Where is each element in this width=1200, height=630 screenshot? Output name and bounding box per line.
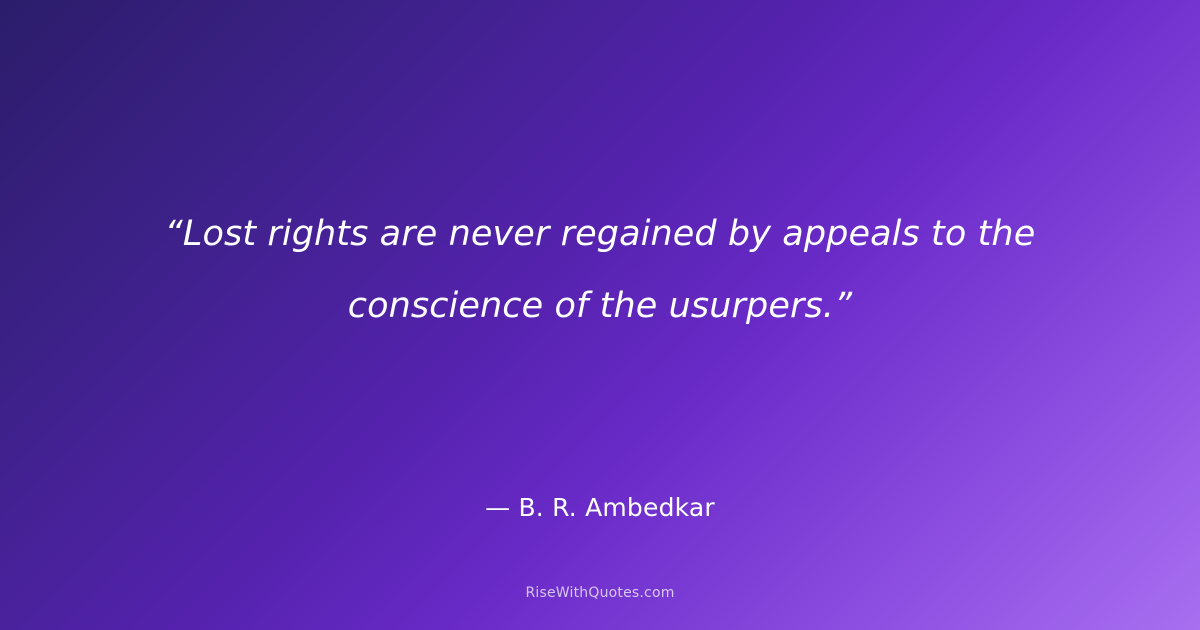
quote-attribution: — B. R. Ambedkar: [0, 492, 1200, 524]
quote-card: “Lost rights are never regained by appea…: [0, 0, 1200, 630]
quote-block: “Lost rights are never regained by appea…: [120, 198, 1080, 342]
site-credit: RiseWithQuotes.com: [0, 584, 1200, 602]
quote-text: “Lost rights are never regained by appea…: [120, 198, 1080, 342]
